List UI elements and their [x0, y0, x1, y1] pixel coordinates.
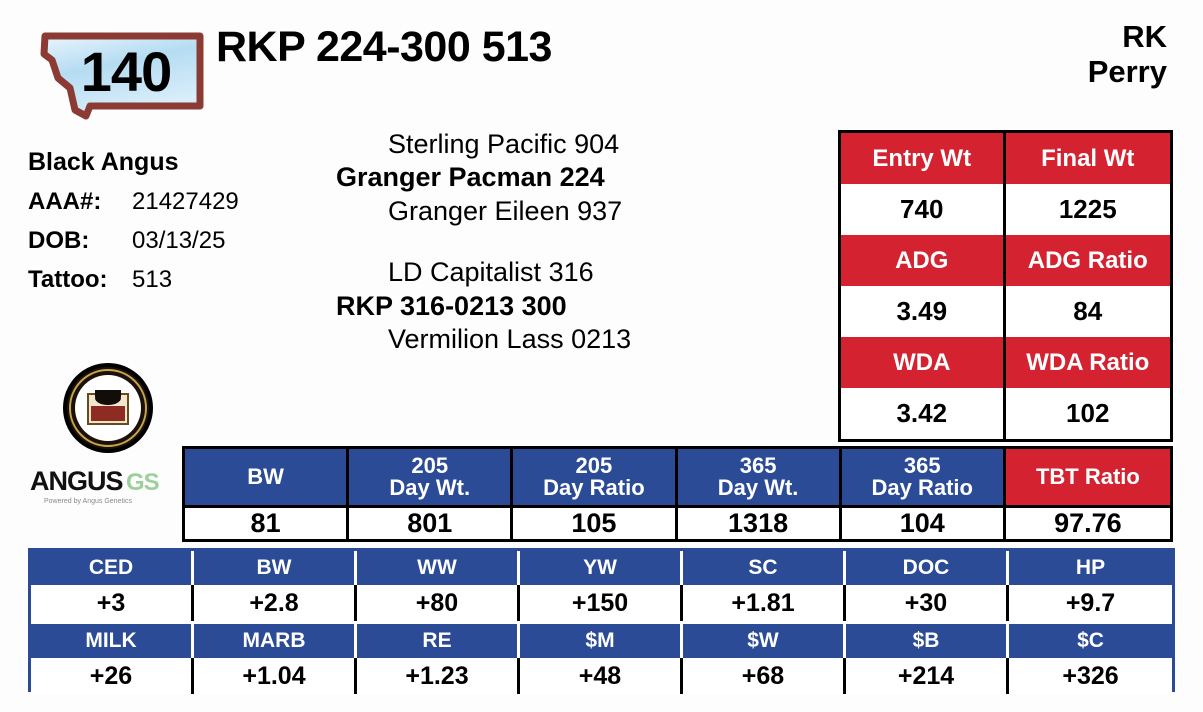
wda-header: WDA	[841, 337, 1006, 388]
consignor-name: RK Perry	[1088, 20, 1167, 89]
epd-value-dollar-c: +326	[1009, 658, 1172, 694]
perf-header-365-wt-l2: Day Wt.	[718, 477, 799, 499]
epd-header-dollar-b: $B	[846, 624, 1009, 658]
aaa-row: AAA#: 21427429	[28, 188, 338, 216]
epd-value-ced: +3	[31, 585, 194, 621]
perf-header-365-ratio: 365 Day Ratio	[842, 449, 1006, 505]
epd-value-dollar-w: +68	[683, 658, 846, 694]
wda-ratio-value: 102	[1006, 388, 1171, 439]
aaa-label: AAA#:	[28, 188, 122, 216]
dam-name: RKP 316-0213 300	[336, 290, 828, 323]
perf-header-205-wt: 205 Day Wt.	[349, 449, 513, 505]
epd-header-milk: MILK	[31, 624, 194, 658]
epd-header-dollar-w: $W	[683, 624, 846, 658]
dob-row: DOB: 03/13/25	[28, 227, 338, 255]
perf-value-205-ratio: 105	[513, 505, 677, 539]
perf-value-bw: 81	[185, 505, 349, 539]
epd-header-yw: YW	[520, 551, 683, 585]
perf-value-365-wt: 1318	[678, 505, 842, 539]
perf-value-205-wt: 801	[349, 505, 513, 539]
aaa-value: 21427429	[132, 188, 239, 216]
angus-seal-icon	[62, 362, 154, 454]
dob-value: 03/13/25	[132, 227, 225, 255]
epd-value-yw: +150	[520, 585, 683, 621]
performance-table: BW 205 Day Wt. 205 Day Ratio 365 Day Wt.…	[182, 446, 1173, 542]
lot-catalog-page: 140 RKP 224-300 513 RK Perry Black Angus…	[0, 0, 1203, 712]
sire-granddam: Granger Eileen 937	[336, 195, 828, 228]
wda-value: 3.42	[841, 388, 1006, 439]
epd-header-marb: MARB	[194, 624, 357, 658]
dob-label: DOB:	[28, 227, 122, 255]
dam-grandsire: LD Capitalist 316	[336, 256, 828, 289]
consignor-line-2: Perry	[1088, 55, 1167, 90]
final-wt-value: 1225	[1006, 184, 1171, 235]
epd-tables: CED BW WW YW SC DOC HP +3 +2.8 +80 +150 …	[28, 548, 1175, 692]
tattoo-row: Tattoo: 513	[28, 266, 338, 294]
epd-header-ww: WW	[357, 551, 520, 585]
wda-ratio-header: WDA Ratio	[1006, 337, 1171, 388]
svg-text:Powered by Angus Genetics: Powered by Angus Genetics	[44, 498, 132, 505]
epd-header-dollar-c: $C	[1009, 624, 1172, 658]
sire-grandsire: Sterling Pacific 904	[336, 128, 828, 161]
pedigree-block: Sterling Pacific 904 Granger Pacman 224 …	[336, 128, 828, 385]
epd-header-bw: BW	[194, 551, 357, 585]
perf-header-205-ratio: 205 Day Ratio	[513, 449, 677, 505]
perf-header-205-wt-l1: 205	[389, 455, 470, 477]
epd-value-milk: +26	[31, 658, 194, 694]
perf-header-tbt-ratio-l1: TBT Ratio	[1036, 466, 1140, 488]
epd-value-sc: +1.81	[683, 585, 846, 621]
epd-header-hp: HP	[1009, 551, 1172, 585]
perf-value-tbt-ratio: 97.76	[1006, 505, 1170, 539]
epd-value-dollar-b: +214	[846, 658, 1009, 694]
perf-header-365-wt: 365 Day Wt.	[678, 449, 842, 505]
epd-value-dollar-m: +48	[520, 658, 683, 694]
adg-header: ADG	[841, 235, 1006, 286]
sire-pedigree: Sterling Pacific 904 Granger Pacman 224 …	[336, 128, 828, 228]
svg-text:GS: GS	[126, 469, 160, 496]
tattoo-value: 513	[132, 266, 172, 294]
epd-header-doc: DOC	[846, 551, 1009, 585]
perf-header-205-ratio-l1: 205	[543, 455, 644, 477]
consignor-line-1: RK	[1088, 20, 1167, 55]
perf-header-365-ratio-l2: Day Ratio	[872, 477, 973, 499]
feedtest-summary-table: Entry Wt Final Wt 740 1225 ADG ADG Ratio…	[838, 130, 1173, 442]
perf-header-205-ratio-l2: Day Ratio	[543, 477, 644, 499]
svg-text:ANGUS: ANGUS	[30, 466, 123, 496]
entry-wt-value: 740	[841, 184, 1006, 235]
angus-gs-logo-icon: ANGUS GS Powered by Angus Genetics	[30, 462, 190, 508]
page-header: 140 RKP 224-300 513 RK Perry	[0, 0, 1203, 122]
epd-table-row-2: MILK MARB RE $M $W $B $C +26 +1.04 +1.23…	[31, 621, 1172, 694]
entry-wt-header: Entry Wt	[841, 133, 1006, 184]
epd-value-bw: +2.8	[194, 585, 357, 621]
perf-header-365-wt-l1: 365	[718, 455, 799, 477]
breed-label: Black Angus	[28, 148, 338, 177]
animal-info-block: Black Angus AAA#: 21427429 DOB: 03/13/25…	[28, 148, 338, 305]
epd-table-row-1: CED BW WW YW SC DOC HP +3 +2.8 +80 +150 …	[31, 551, 1172, 621]
epd-value-marb: +1.04	[194, 658, 357, 694]
epd-header-sc: SC	[683, 551, 846, 585]
page-title: RKP 224-300 513	[216, 23, 552, 72]
dam-granddam: Vermilion Lass 0213	[336, 323, 828, 356]
adg-value: 3.49	[841, 286, 1006, 337]
epd-value-doc: +30	[846, 585, 1009, 621]
adg-ratio-value: 84	[1006, 286, 1171, 337]
perf-header-bw: BW	[185, 449, 349, 505]
epd-value-re: +1.23	[357, 658, 520, 694]
lot-number-badge: 140	[28, 26, 206, 122]
epd-value-hp: +9.7	[1009, 585, 1172, 621]
sire-name: Granger Pacman 224	[336, 161, 828, 194]
perf-value-365-ratio: 104	[842, 505, 1006, 539]
perf-header-365-ratio-l1: 365	[872, 455, 973, 477]
epd-value-ww: +80	[357, 585, 520, 621]
perf-header-205-wt-l2: Day Wt.	[389, 477, 470, 499]
epd-header-dollar-m: $M	[520, 624, 683, 658]
lot-number-text: 140	[28, 26, 206, 122]
epd-header-ced: CED	[31, 551, 194, 585]
adg-ratio-header: ADG Ratio	[1006, 235, 1171, 286]
perf-header-bw-l1: BW	[247, 466, 284, 488]
dam-pedigree: LD Capitalist 316 RKP 316-0213 300 Vermi…	[336, 256, 828, 356]
epd-header-re: RE	[357, 624, 520, 658]
tattoo-label: Tattoo:	[28, 266, 122, 294]
perf-header-tbt-ratio: TBT Ratio	[1006, 449, 1170, 505]
final-wt-header: Final Wt	[1006, 133, 1171, 184]
